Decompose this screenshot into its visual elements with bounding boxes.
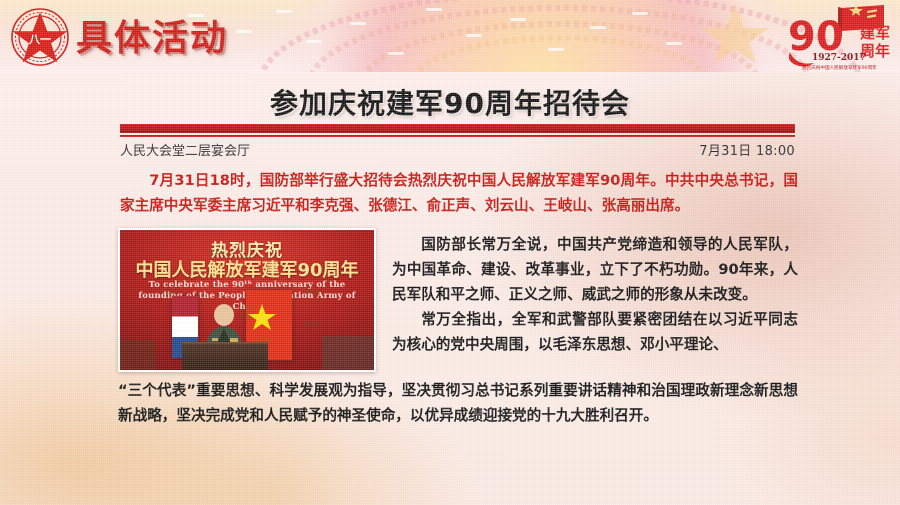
title-divider bbox=[120, 124, 795, 137]
header-star-icon bbox=[698, 2, 772, 64]
podium bbox=[182, 342, 268, 372]
photo-banner-line2: 中国人民解放军建军90周年 bbox=[120, 256, 374, 282]
emblem-center-text: 八一 bbox=[28, 33, 51, 46]
slide-meta: 人民大会堂二层宴会厅 7月31日 18:00 bbox=[120, 139, 795, 159]
header-dash-decoration bbox=[180, 0, 700, 72]
anniversary-caption: 热烈庆祝中国人民解放军建军90周年 bbox=[802, 64, 877, 71]
divider-thin-line bbox=[120, 135, 795, 137]
page-title: 参加庆祝建军90周年招待会 bbox=[0, 82, 900, 122]
photo-left-table bbox=[120, 340, 156, 370]
right-text-column: 国防部长常万全说，中国共产党缔造和领导的人民军队，为中国革命、建设、改革事业，立… bbox=[392, 232, 798, 357]
venue-label: 人民大会堂二层宴会厅 bbox=[120, 140, 250, 159]
header-title: 具体活动 bbox=[76, 9, 228, 61]
body-paragraph-1: 国防部长常万全说，中国共产党缔造和领导的人民军队，为中国革命、建设、改革事业，立… bbox=[392, 232, 798, 307]
pla-star-emblem-icon: 八一 bbox=[10, 7, 70, 67]
anniversary-right-line1: 建军 bbox=[860, 24, 890, 42]
body-paragraph-2: 常万全指出，全军和武警部队要紧密团结在以习近平同志为核心的党中央周围，以毛泽东思… bbox=[392, 307, 798, 357]
press-conference-photo: 热烈庆祝 中国人民解放军建军90周年 To celebrate the 90ᵗʰ… bbox=[118, 228, 376, 372]
photo-right-table bbox=[322, 336, 374, 370]
datetime-label: 7月31日 18:00 bbox=[699, 140, 795, 159]
body-paragraph-3: “三个代表”重要思想、科学发展观为指导，坚决贯彻习总书记系列重要讲话精神和治国理… bbox=[118, 378, 798, 428]
anniversary-90-logo: 90 建军 周年 1927-2017 热烈庆祝中国人民解放军建军90周年 bbox=[784, 2, 896, 72]
lead-paragraph: 7月31日18时，国防部举行盛大招待会热烈庆祝中国人民解放军建军90周年。中共中… bbox=[120, 168, 798, 218]
anniversary-years: 1927-2017 bbox=[812, 53, 866, 63]
slide-root: 八一 具体活动 90 建军 周年 1927-2017 热烈庆祝中国人民解放军建军… bbox=[0, 0, 900, 505]
divider-bar bbox=[120, 124, 795, 133]
slide-header: 八一 具体活动 90 建军 周年 1927-2017 热烈庆祝中国人民解放军建军… bbox=[0, 0, 900, 72]
